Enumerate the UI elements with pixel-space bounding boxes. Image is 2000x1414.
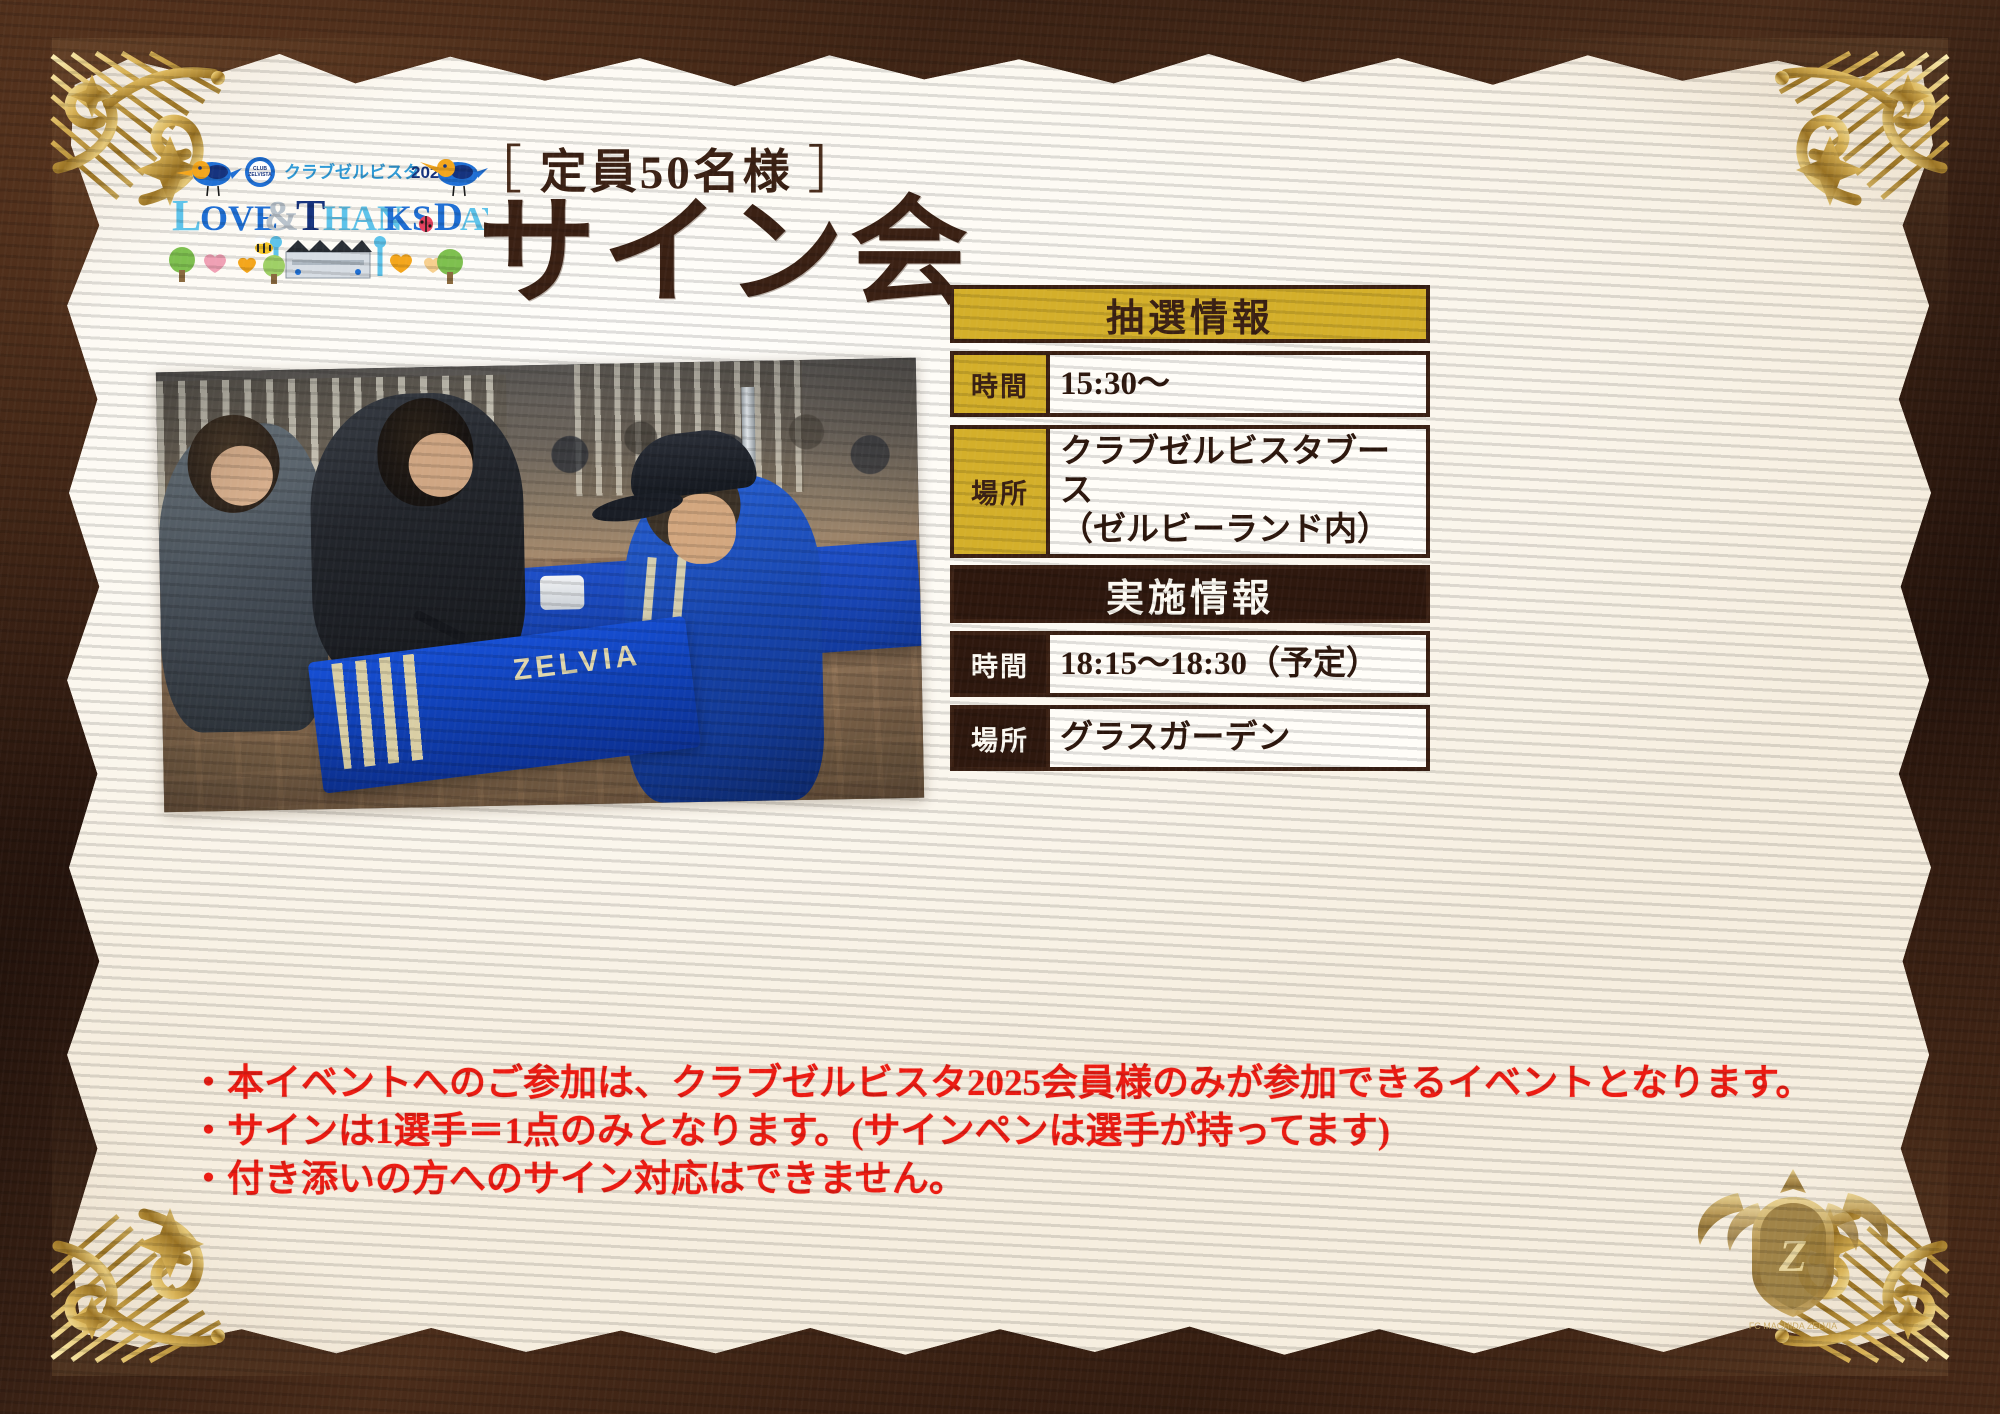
row-value-place: クラブゼルビスタブース （ゼルビーランド内） [1050, 429, 1426, 554]
row-label-place: 場所 [954, 709, 1050, 767]
svg-text:FC MACHIDA ZELVIA: FC MACHIDA ZELVIA [1749, 1321, 1837, 1331]
row-value-time: 15:30〜 [1050, 355, 1426, 413]
tree-icon [437, 249, 463, 284]
svg-text:クラブゼルビスタ: クラブゼルビスタ [284, 162, 420, 182]
table-row: 時間 18:15〜18:30（予定） [950, 631, 1430, 697]
lottery-info-table: 抽選情報 時間 15:30〜 場所 クラブゼルビスタブース （ゼルビーランド内） [950, 285, 1430, 566]
heart-icon [238, 258, 256, 273]
event-info-header: 実施情報 [950, 565, 1430, 623]
notes-list: ・本イベントへのご参加は、クラブゼルビスタ2025会員様のみが参加できるイベント… [190, 1060, 1790, 1204]
ladybug-icon [419, 216, 433, 232]
svg-text:L: L [172, 191, 201, 240]
svg-text:&: & [264, 194, 299, 240]
row-label-time: 時間 [954, 635, 1050, 693]
table-row: 場所 グラスガーデン [950, 705, 1430, 771]
svg-text:Z: Z [1778, 1230, 1807, 1281]
row-label-time: 時間 [954, 355, 1050, 413]
page-title: サイン会 [478, 190, 974, 317]
heart-icon [390, 254, 412, 273]
lottery-info-header: 抽選情報 [950, 285, 1430, 343]
tree-icon [263, 255, 285, 284]
note-item: ・本イベントへのご参加は、クラブゼルビスタ2025会員様のみが参加できるイベント… [190, 1060, 1790, 1108]
event-info-table: 実施情報 時間 18:15〜18:30（予定） 場所 グラスガーデン [950, 565, 1430, 779]
event-photo: ZELVIA [156, 358, 924, 813]
club-emblem-icon: Z FC MACHIDA ZELVIA [1678, 1159, 1908, 1334]
svg-text:ZELVISTA: ZELVISTA [248, 172, 272, 178]
tree-icon [169, 247, 195, 282]
note-item: ・サインは1選手＝1点のみとなります。(サインペンは選手が持ってます) [190, 1108, 1790, 1156]
row-label-place: 場所 [954, 429, 1050, 554]
row-value-place: グラスガーデン [1050, 709, 1426, 767]
table-row: 場所 クラブゼルビスタブース （ゼルビーランド内） [950, 425, 1430, 558]
row-value-time: 18:15〜18:30（予定） [1050, 635, 1426, 693]
heart-icon [204, 254, 226, 273]
stadium-icon [270, 236, 386, 278]
poster-background: CLUB ZELVISTA クラブゼルビスタ 2025 L OVE & T HA… [0, 0, 2000, 1414]
love-and-thanks-days-logo: CLUB ZELVISTA クラブゼルビスタ 2025 L OVE & T HA… [168, 148, 488, 288]
svg-text:T: T [296, 191, 325, 240]
table-row: 時間 15:30〜 [950, 351, 1430, 417]
svg-text:D: D [434, 194, 463, 239]
note-item: ・付き添いの方へのサイン対応はできません。 [190, 1156, 1790, 1204]
